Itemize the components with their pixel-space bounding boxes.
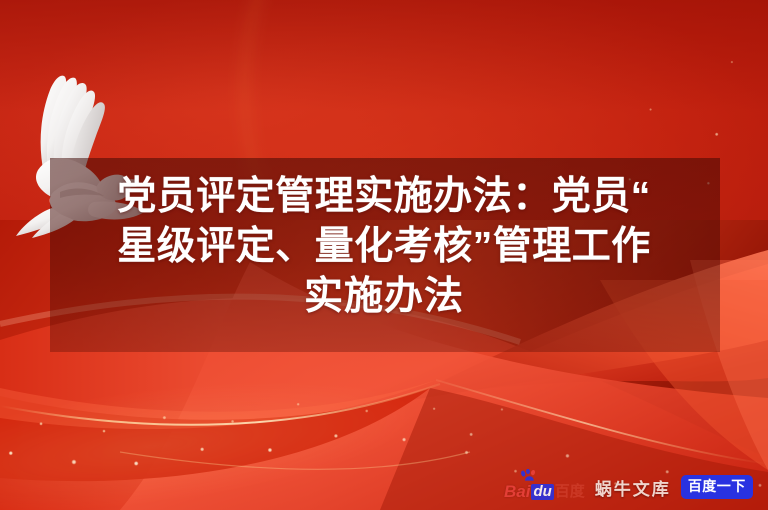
page-title: 党员评定管理实施办法：党员“ 星级评定、量化考核”管理工作 实施办法 [56, 172, 712, 322]
baidu-logo[interactable]: Bai du 百度 [504, 474, 585, 500]
baidu-du-text: du [531, 484, 553, 500]
site-name-watermark: 蜗牛文库 [595, 475, 671, 500]
baidu-cn-text: 百度 [555, 484, 585, 500]
title-line-1: 党员评定管理实施办法：党员“ [56, 172, 712, 222]
baidu-bai-text: Bai [504, 483, 530, 500]
paw-icon [520, 469, 538, 482]
poster-image: 党员评定管理实施办法：党员“ 星级评定、量化考核”管理工作 实施办法 Bai d… [0, 0, 768, 510]
watermark-row: Bai du 百度 蜗牛文库 百度一下 [504, 472, 753, 502]
title-line-2: 星级评定、量化考核”管理工作 [56, 222, 712, 272]
title-line-3: 实施办法 [56, 272, 712, 322]
baidu-search-button[interactable]: 百度一下 [681, 475, 753, 499]
